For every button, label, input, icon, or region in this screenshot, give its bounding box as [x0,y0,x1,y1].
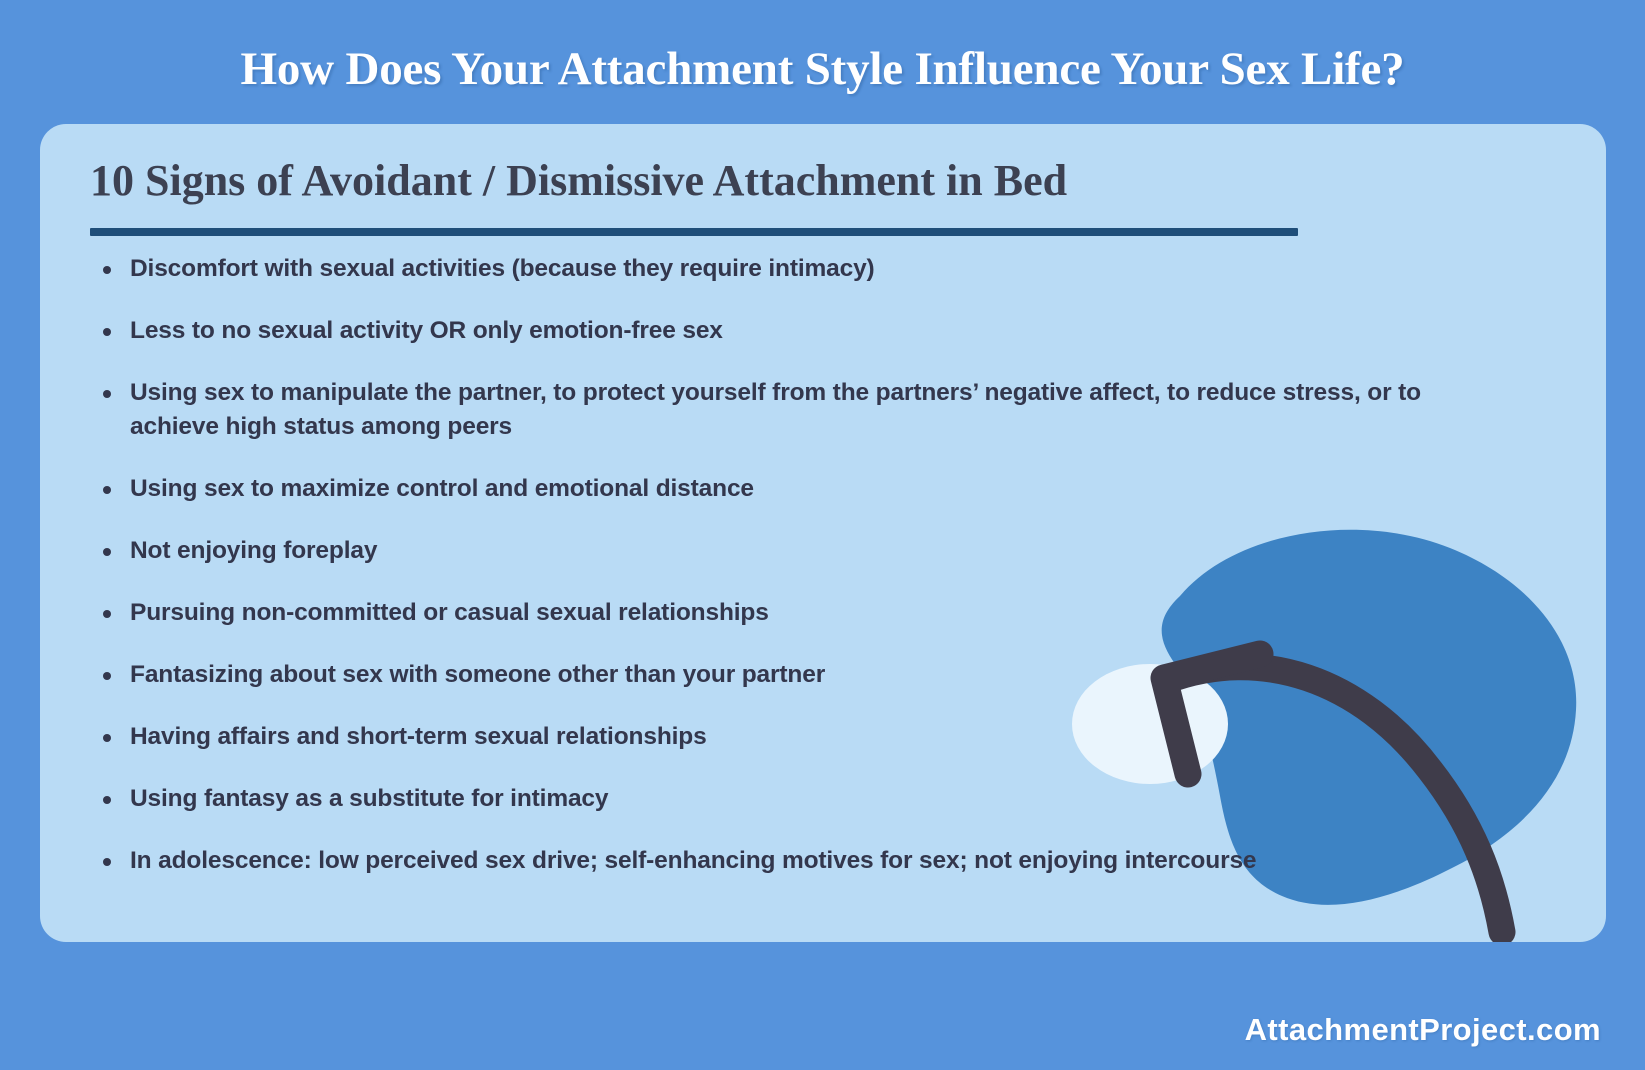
page-title: How Does Your Attachment Style Influence… [0,38,1645,100]
list-item: Using sex to maximize control and emotio… [92,472,1502,506]
bullet-dot-icon [103,734,111,742]
list-item: Using sex to manipulate the partner, to … [92,376,1452,444]
bullet-dot-icon [103,858,111,866]
list-item: Discomfort with sexual activities (becau… [92,252,1502,286]
bullet-dot-icon [103,486,111,494]
list-item: Having affairs and short-term sexual rel… [92,720,1502,754]
bullet-dot-icon [103,672,111,680]
list-item-label: In adolescence: low perceived sex drive;… [130,847,1256,874]
list-item-label: Less to no sexual activity OR only emoti… [130,317,723,344]
bullet-dot-icon [103,266,111,274]
signs-list: Discomfort with sexual activities (becau… [92,252,1502,878]
bullet-dot-icon [103,610,111,618]
list-item: Using fantasy as a substitute for intima… [92,782,1502,816]
list-item: In adolescence: low perceived sex drive;… [92,844,1502,878]
list-item: Not enjoying foreplay [92,534,1502,568]
list-item: Pursuing non-committed or casual sexual … [92,596,1502,630]
bullet-dot-icon [103,796,111,804]
site-branding[interactable]: AttachmentProject.com [1245,1012,1601,1048]
bullet-dot-icon [103,548,111,556]
list-item-label: Fantasizing about sex with someone other… [130,661,825,688]
list-item-label: Having affairs and short-term sexual rel… [130,723,707,750]
list-item-label: Not enjoying foreplay [130,537,377,564]
list-item-label: Pursuing non-committed or casual sexual … [130,599,769,626]
list-item-label: Using fantasy as a substitute for intima… [130,785,608,812]
list-item-label: Discomfort with sexual activities (becau… [130,255,875,282]
list-item: Fantasizing about sex with someone other… [92,658,1502,692]
list-item-label: Using sex to maximize control and emotio… [130,475,754,502]
bullet-dot-icon [103,390,111,398]
list-item: Less to no sexual activity OR only emoti… [92,314,1502,348]
section-heading: 10 Signs of Avoidant / Dismissive Attach… [90,152,1067,210]
bullet-dot-icon [103,328,111,336]
list-item-label: Using sex to manipulate the partner, to … [130,379,1421,440]
content-card: 10 Signs of Avoidant / Dismissive Attach… [40,124,1606,942]
heading-underline [90,228,1298,236]
